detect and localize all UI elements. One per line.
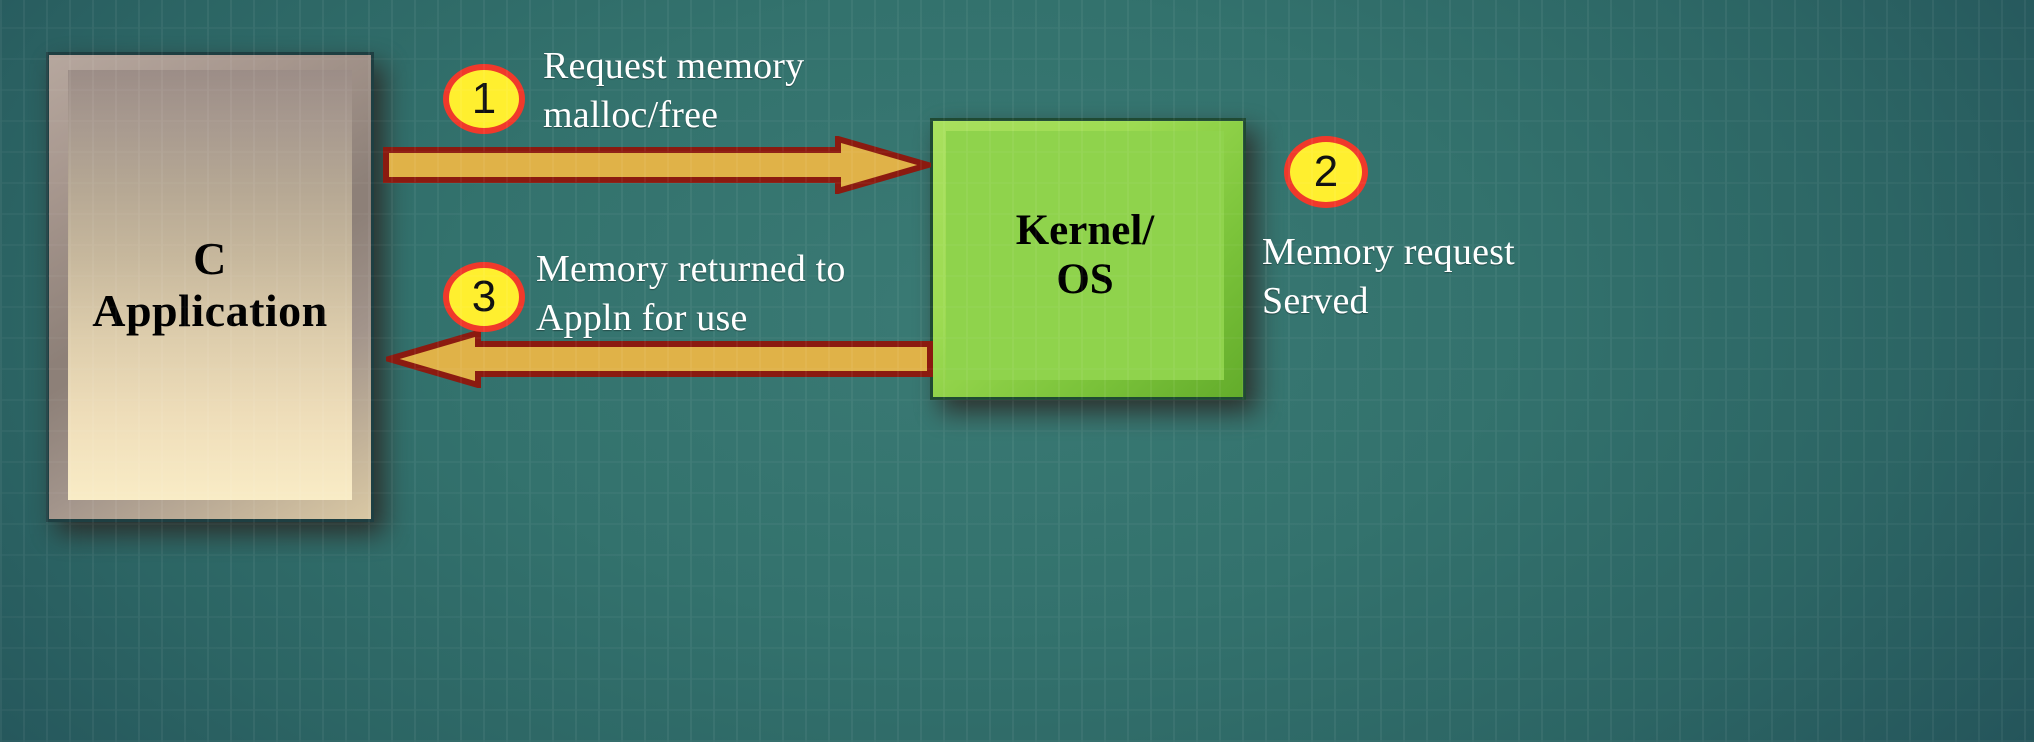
application-box[interactable]: C Application: [46, 52, 374, 522]
request-arrow-icon: [383, 136, 931, 194]
application-label-line2: Application: [92, 285, 328, 337]
step-number-badge-2[interactable]: 2: [1284, 136, 1368, 208]
step-1-caption: Request memory malloc/free: [543, 42, 804, 141]
step-number-badge-3[interactable]: 3: [443, 262, 525, 332]
step-number-1-text: 1: [472, 77, 496, 121]
step-3-caption: Memory returned to Appln for use: [536, 245, 846, 344]
application-box-face: C Application: [68, 70, 352, 500]
kernel-os-box[interactable]: Kernel/ OS: [930, 118, 1246, 400]
kernel-label-line2: OS: [1056, 256, 1113, 304]
step-number-badge-1[interactable]: 1: [443, 64, 525, 134]
application-label-line1: C: [193, 233, 227, 285]
kernel-os-box-face: Kernel/ OS: [946, 131, 1224, 380]
step-number-3-text: 3: [472, 275, 496, 319]
step-2-caption: Memory request Served: [1262, 228, 1515, 327]
diagram-canvas: C Application Kernel/ OS 1 2 3 Request m…: [0, 0, 2034, 742]
kernel-label-line1: Kernel/: [1016, 207, 1155, 255]
step-number-2-text: 2: [1314, 150, 1338, 194]
